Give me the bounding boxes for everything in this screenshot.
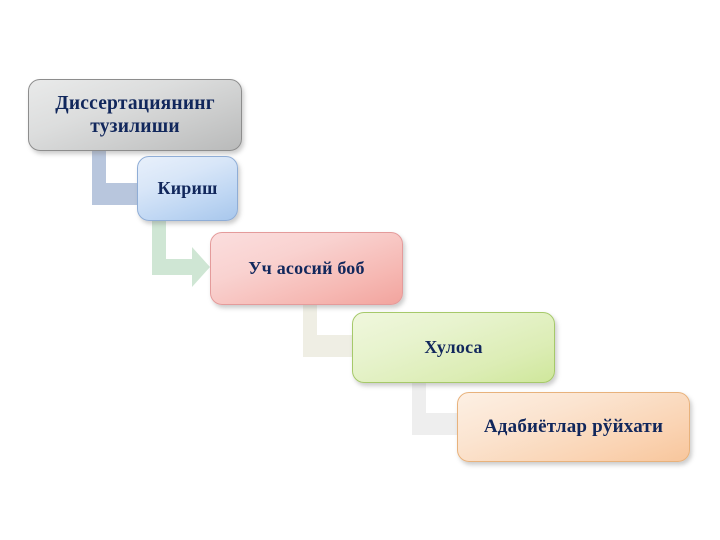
node-label: Диссертациянинг тузилиши — [47, 92, 223, 138]
node-label: Уч асосий боб — [240, 258, 372, 279]
node-label: Кириш — [149, 178, 225, 199]
node-three-main-chapters[interactable]: Уч асосий боб — [210, 232, 403, 305]
node-bibliography[interactable]: Адабиётлар рўйхати — [457, 392, 690, 462]
node-label: Хулоса — [416, 337, 490, 358]
node-conclusion[interactable]: Хулоса — [352, 312, 555, 383]
connector-introduction-to-chapters — [150, 219, 212, 287]
connector-chapters-to-conclusion — [301, 303, 357, 359]
node-introduction[interactable]: Кириш — [137, 156, 238, 221]
connector-conclusion-to-bibliography — [410, 381, 464, 437]
node-dissertation-structure[interactable]: Диссертациянинг тузилиши — [28, 79, 242, 151]
node-label: Адабиётлар рўйхати — [476, 416, 671, 438]
diagram-canvas: Диссертациянинг тузилиши Кириш Уч асосий… — [0, 0, 720, 540]
